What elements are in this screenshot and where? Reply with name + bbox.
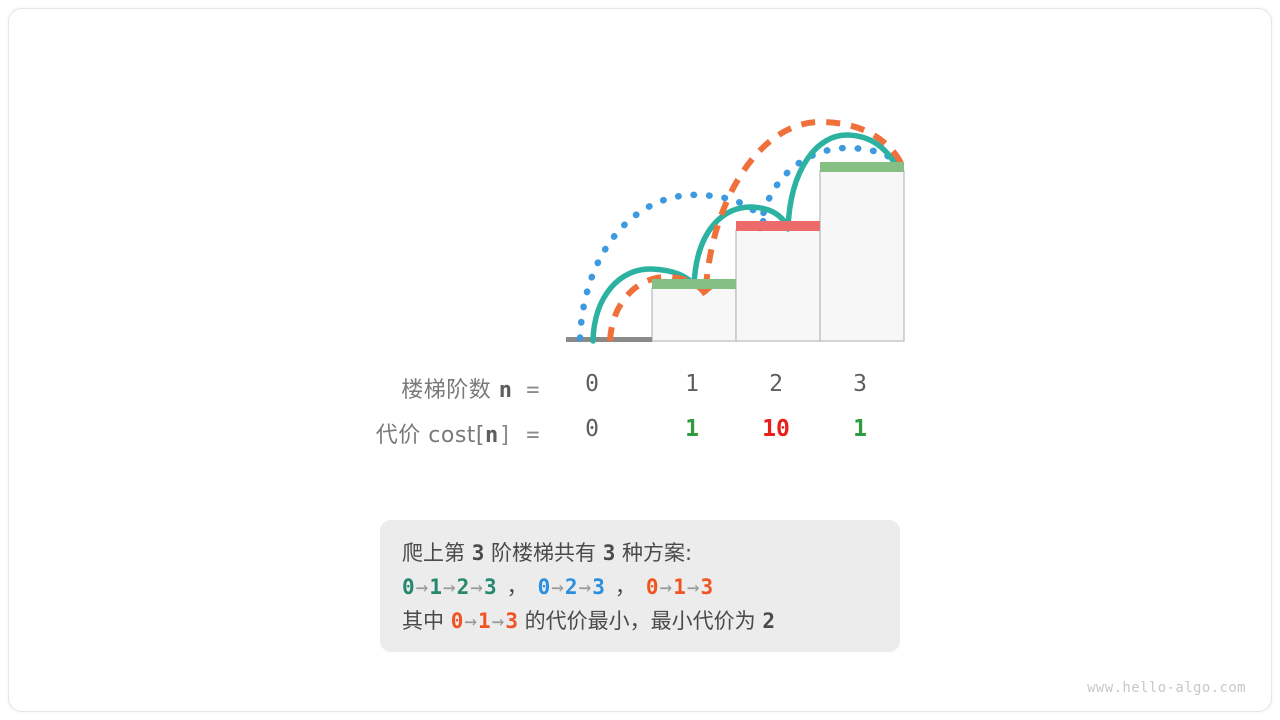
arrow-icon: → — [463, 609, 478, 633]
explanation-line-1: 爬上第 3 阶楼梯共有 3 种方案: — [402, 536, 900, 570]
cell-n-0: 0 — [562, 371, 622, 397]
arrow-icon: → — [442, 575, 457, 599]
seq-orange: 0→1→3 — [646, 575, 713, 599]
seq2-n1: 2 — [565, 575, 578, 599]
row2-label-eq: ] = — [499, 423, 540, 448]
line1-part-a: 爬上第 — [402, 541, 472, 565]
seq-orange-best: 0→1→3 — [451, 609, 518, 633]
seq1-n2: 2 — [457, 575, 470, 599]
explanation-box: 爬上第 3 阶楼梯共有 3 种方案: 0→1→2→3，0→2→3，0→1→3 其… — [380, 520, 900, 652]
seq-teal: 0→1→2→3 — [402, 575, 497, 599]
seq3-n0: 0 — [646, 575, 659, 599]
row-label-step-index: 楼梯阶数 n = — [220, 372, 540, 404]
seq2-n2: 3 — [592, 575, 605, 599]
line3-part-a: 其中 — [402, 609, 451, 633]
seq1-n1: 1 — [429, 575, 442, 599]
explanation-line-2: 0→1→2→3，0→2→3，0→1→3 — [402, 570, 900, 604]
arrow-icon: → — [491, 609, 506, 633]
seq2-n0: 0 — [538, 575, 551, 599]
row-label-cost: 代价 cost[n] = — [220, 417, 540, 449]
explanation-line-3: 其中 0→1→3 的代价最小，最小代价为 2 — [402, 604, 900, 638]
cell-n-3: 3 — [830, 371, 890, 397]
screenshot-canvas: 楼梯阶数 n = 0 1 2 3 代价 cost[n] = 0 1 10 1 爬… — [0, 0, 1280, 720]
arrow-icon: → — [686, 575, 701, 599]
row2-label-var: n — [485, 423, 499, 448]
arrow-icon: → — [550, 575, 565, 599]
line3-seq-n0: 0 — [451, 609, 464, 633]
arrow-icon: → — [659, 575, 674, 599]
seq1-n0: 0 — [402, 575, 415, 599]
arrow-icon: → — [469, 575, 484, 599]
watermark: www.hello-algo.com — [1087, 680, 1246, 696]
row1-label-var: n — [499, 378, 513, 403]
seq-separator-1: ， — [497, 575, 538, 599]
cell-cost-1: 1 — [662, 416, 722, 442]
cell-cost-3: 1 — [830, 416, 890, 442]
row1-label-prefix: 楼梯阶数 — [401, 378, 499, 403]
line1-part-c: 种方案: — [615, 541, 692, 565]
arrow-icon: → — [415, 575, 430, 599]
arrow-icon: → — [578, 575, 593, 599]
line3-min-cost: 2 — [762, 609, 775, 633]
seq-separator-2: ， — [605, 575, 646, 599]
cell-n-1: 1 — [662, 371, 722, 397]
seq3-n1: 1 — [673, 575, 686, 599]
cell-cost-2: 10 — [746, 416, 806, 442]
line3-seq-n2: 3 — [505, 609, 518, 633]
seq1-n3: 3 — [484, 575, 497, 599]
cell-n-2: 2 — [746, 371, 806, 397]
cell-cost-0: 0 — [562, 416, 622, 442]
row1-label-eq: = — [513, 378, 541, 403]
line1-part-b: 阶楼梯共有 — [484, 541, 602, 565]
line3-part-b: 的代价最小，最小代价为 — [518, 609, 762, 633]
line1-scheme-count: 3 — [603, 541, 616, 565]
seq-blue: 0→2→3 — [538, 575, 605, 599]
line3-seq-n1: 1 — [478, 609, 491, 633]
row2-label-prefix: 代价 cost[ — [376, 423, 485, 448]
line1-step-number: 3 — [472, 541, 485, 565]
seq3-n2: 3 — [701, 575, 714, 599]
